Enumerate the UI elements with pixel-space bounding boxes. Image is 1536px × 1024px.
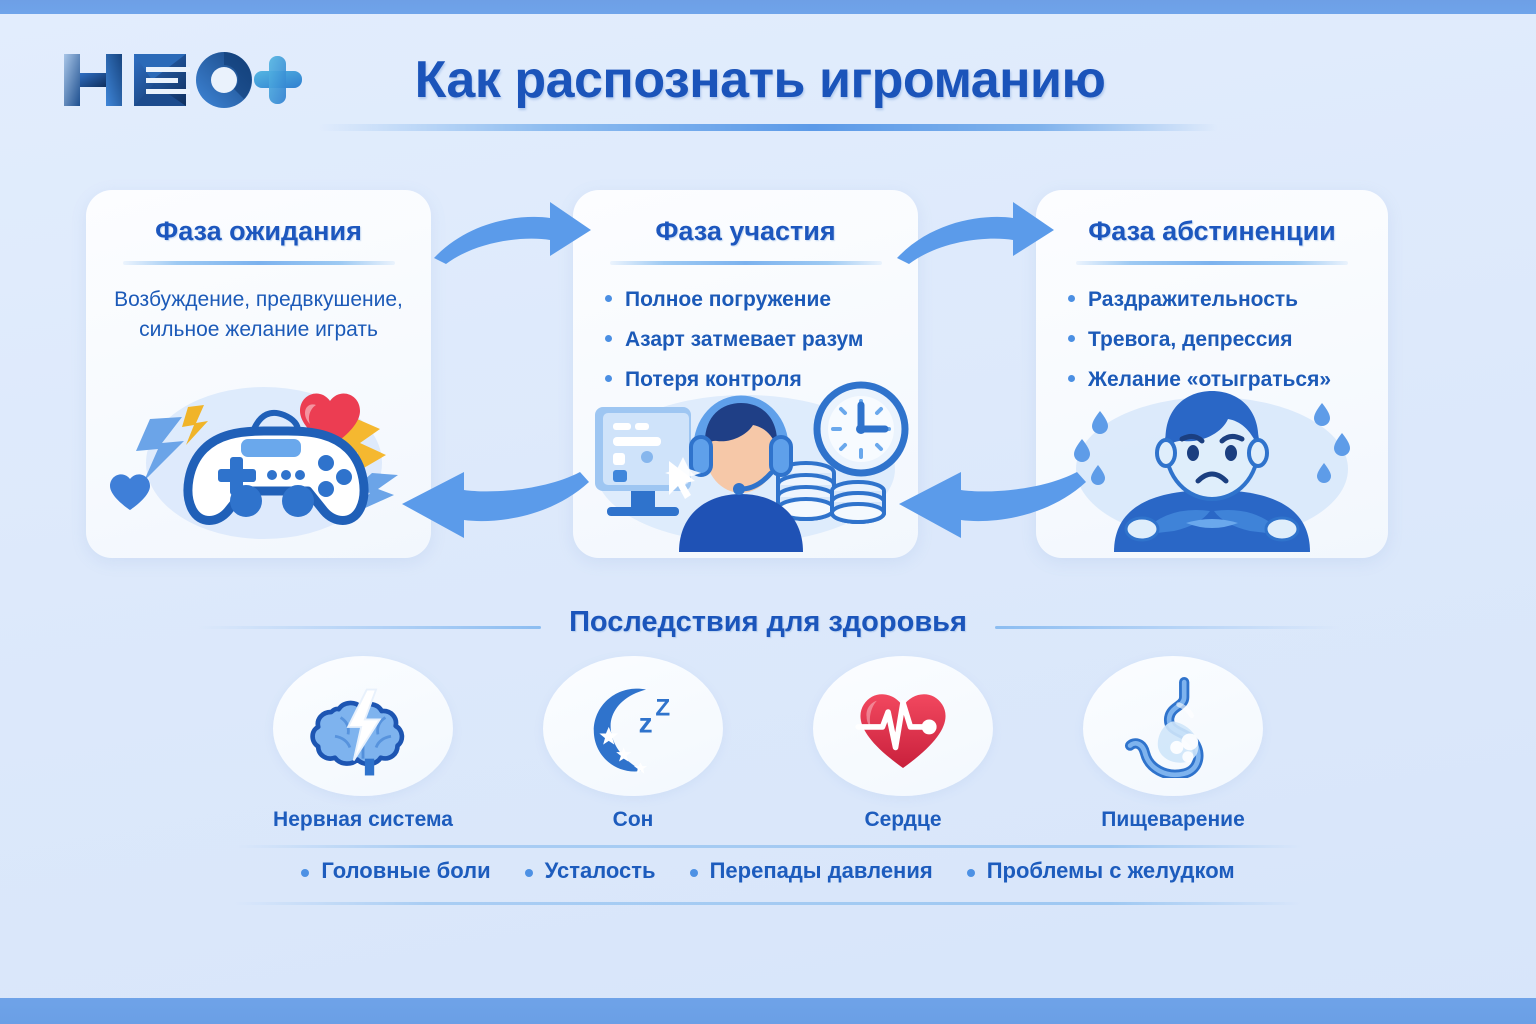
arrow-phase2-back-to-phase1 [398,468,593,540]
phase-title-divider [1076,261,1348,265]
heart-pulse-icon [847,674,959,778]
health-item-label: Сердце [803,808,1003,832]
arrow-phase1-to-phase2 [430,196,595,266]
phase-description: Возбуждение, предвкушение, сильное желан… [86,285,431,346]
health-header: Последствия для здоровья [0,600,1536,656]
symptoms-row: Головные боли Усталость Перепады давлени… [0,858,1536,884]
symptom-item: Перепады давления [690,858,933,884]
symptom-item: Усталость [525,858,656,884]
health-icons-row: Нервная система z Z Сон [0,656,1536,832]
top-border [0,0,1536,14]
svg-text:z: z [639,708,653,739]
list-item: Полное погружение [603,285,892,315]
title-underline [318,124,1218,131]
phase-title: Фаза абстиненции [1036,216,1388,247]
gamer-monitor-clock-coins-illustration [573,377,918,552]
header: Как распознать игроманию [0,14,1536,134]
page-title: Как распознать игроманию [330,50,1190,110]
icon-blob: z Z [543,656,723,796]
icon-blob [813,656,993,796]
health-item-label: Нервная система [263,808,463,832]
icon-blob [1083,656,1263,796]
list-item: Раздражительность [1066,285,1362,315]
svg-text:Z: Z [655,695,670,722]
symptoms-divider-bottom [234,902,1302,905]
list-item: Тревога, депрессия [1066,325,1362,355]
brand-logo [42,40,302,118]
header-rule-right [995,626,1340,629]
phase-title-divider [123,261,395,265]
health-item-heart[interactable]: Сердце [803,656,1003,832]
phase-card-anticipation[interactable]: Фаза ожидания Возбуждение, предвкушение,… [86,190,431,558]
phase-title-divider [610,261,882,265]
moon-zzz-icon: z Z [577,674,689,778]
list-item: Азарт затмевает разум [603,325,892,355]
phase-card-participation[interactable]: Фаза участия Полное погружение Азарт зат… [573,190,918,558]
arrow-phase3-back-to-phase2 [895,468,1090,540]
symptom-item: Головные боли [301,858,490,884]
stomach-icon [1117,674,1229,778]
icon-blob [273,656,453,796]
phases-row: Фаза ожидания Возбуждение, предвкушение,… [0,190,1536,570]
health-item-sleep[interactable]: z Z Сон [533,656,733,832]
arrow-phase2-to-phase3 [893,196,1058,266]
health-item-label: Сон [533,808,733,832]
infographic-frame: Как распознать игроманию Фаза ожидания В… [0,0,1536,1024]
gamepad-heart-illustration [86,377,431,552]
health-item-nervous-system[interactable]: Нервная система [263,656,463,832]
health-item-label: Пищеварение [1073,808,1273,832]
health-title: Последствия для здоровья [0,606,1536,639]
health-item-digestion[interactable]: Пищеварение [1073,656,1273,832]
symptoms-divider-top [234,845,1302,848]
bottom-border [0,998,1536,1024]
brain-lightning-icon [307,674,419,778]
symptom-item: Проблемы с желудком [967,858,1235,884]
health-consequences-section: Последствия для здоровья Нервная система [0,600,1536,1000]
phase-title: Фаза ожидания [86,216,431,247]
phase-title: Фаза участия [573,216,918,247]
